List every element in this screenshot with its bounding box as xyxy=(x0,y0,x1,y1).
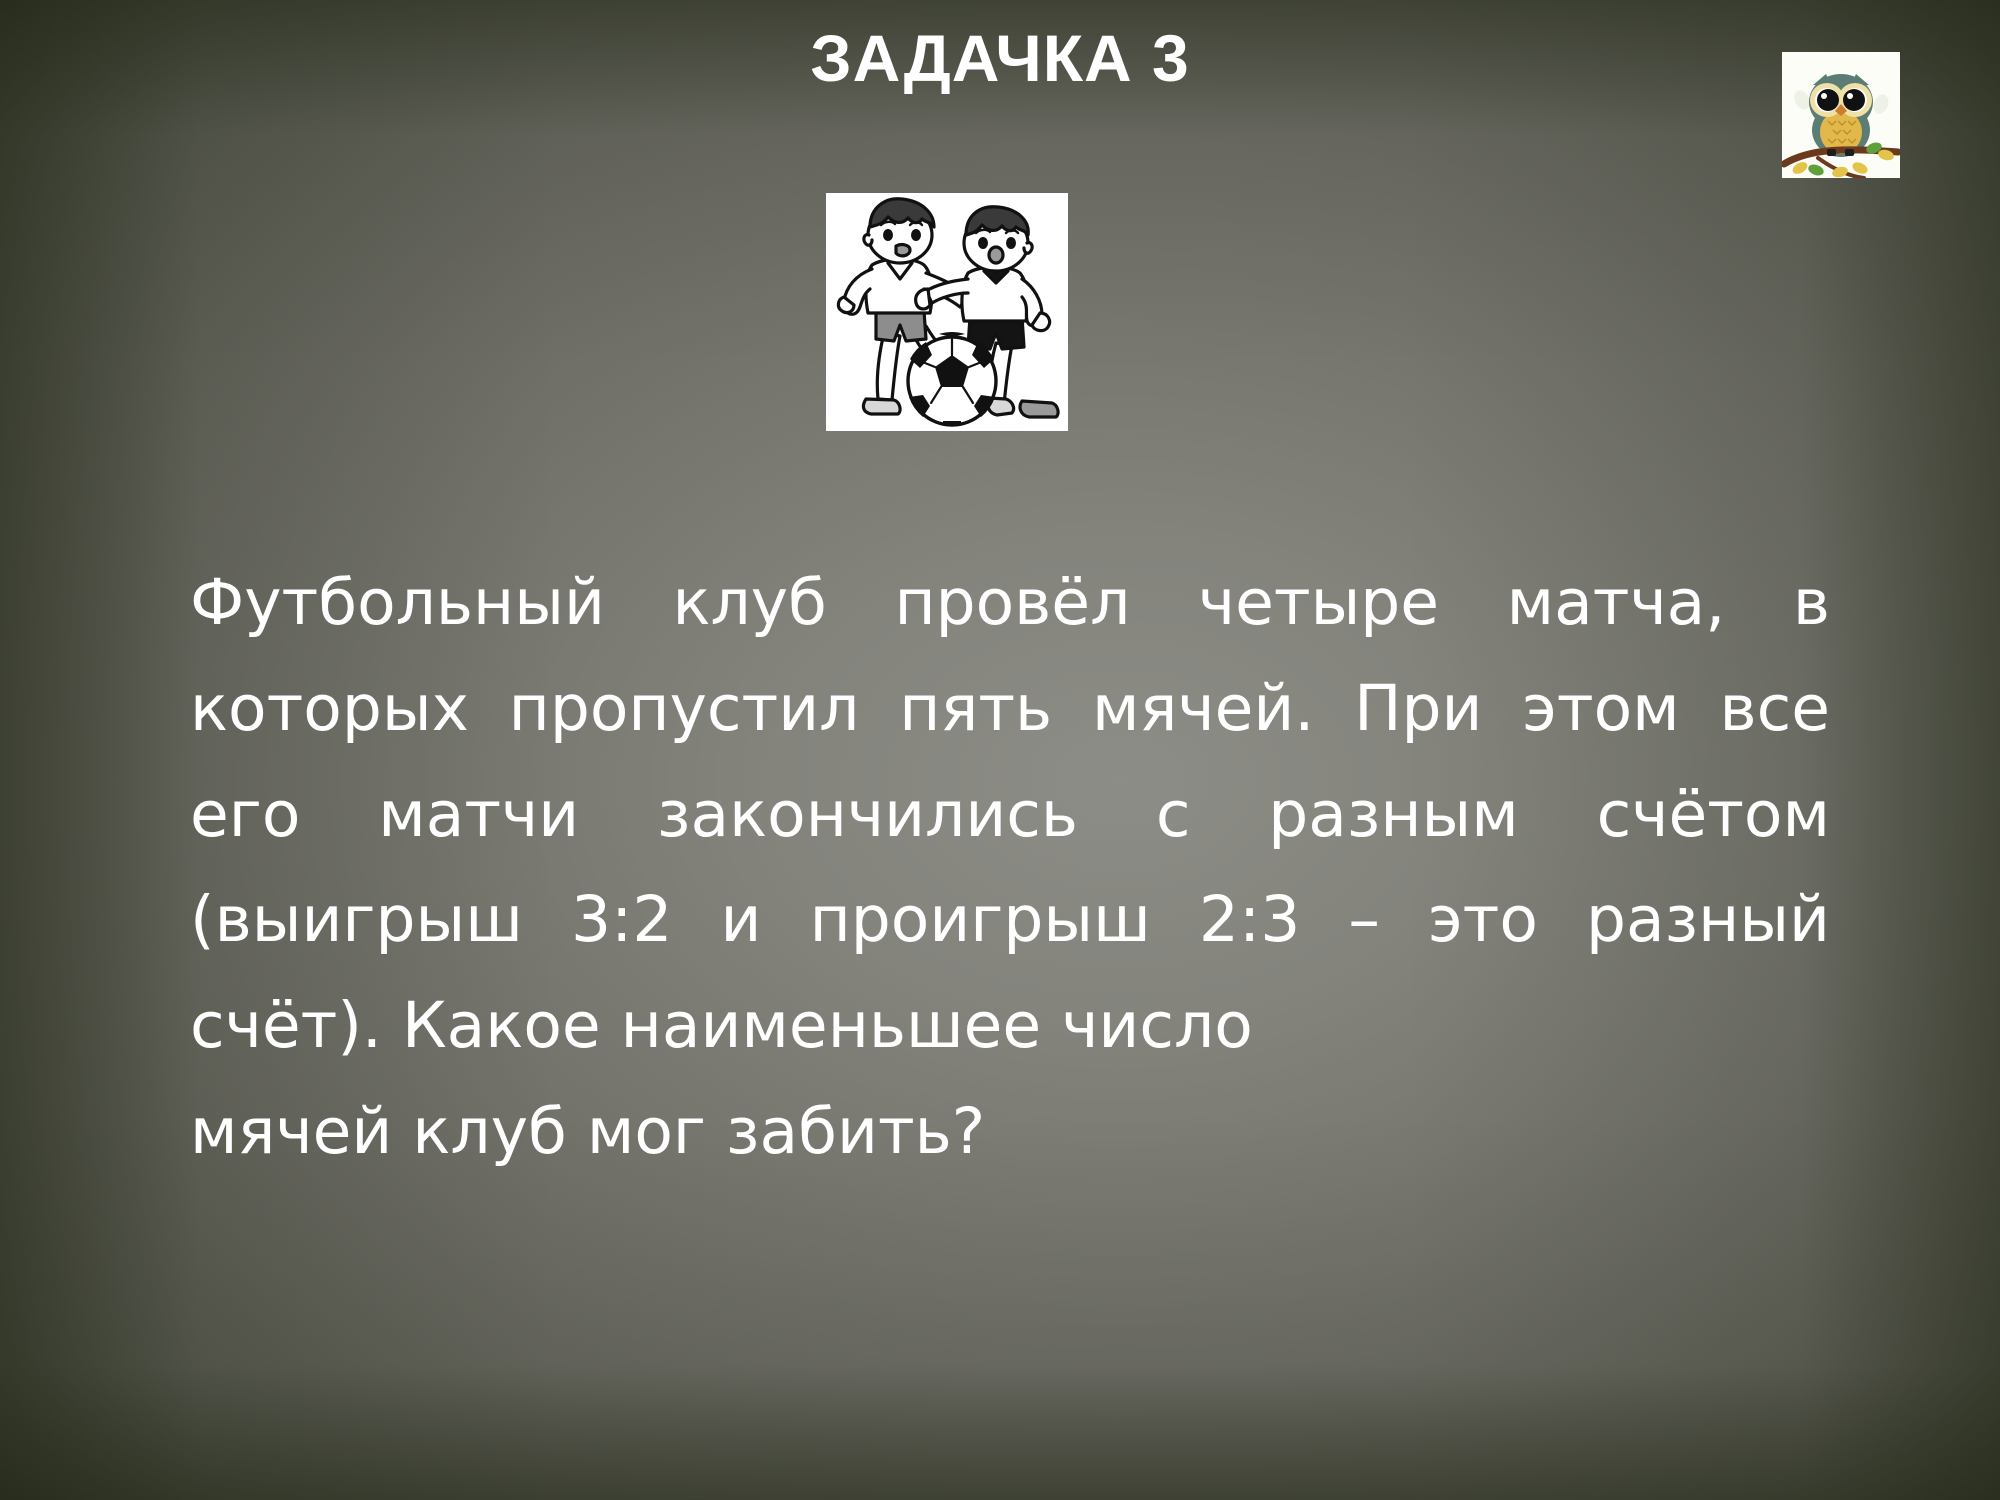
problem-text-tail: мячей клуб мог забить? xyxy=(190,1079,1830,1185)
football-players-image xyxy=(826,193,1068,431)
problem-text-main: Футбольный клуб провёл четыре матча, в к… xyxy=(190,550,1830,1079)
page-title: ЗАДАЧКА 3 xyxy=(0,22,2000,95)
owl-logo xyxy=(1782,52,1900,178)
football-players-icon xyxy=(826,193,1068,431)
problem-text: Футбольный клуб провёл четыре матча, в к… xyxy=(190,550,1830,1185)
owl-icon xyxy=(1782,52,1900,178)
slide-canvas: ЗАДАЧКА 3 xyxy=(0,0,2000,1500)
